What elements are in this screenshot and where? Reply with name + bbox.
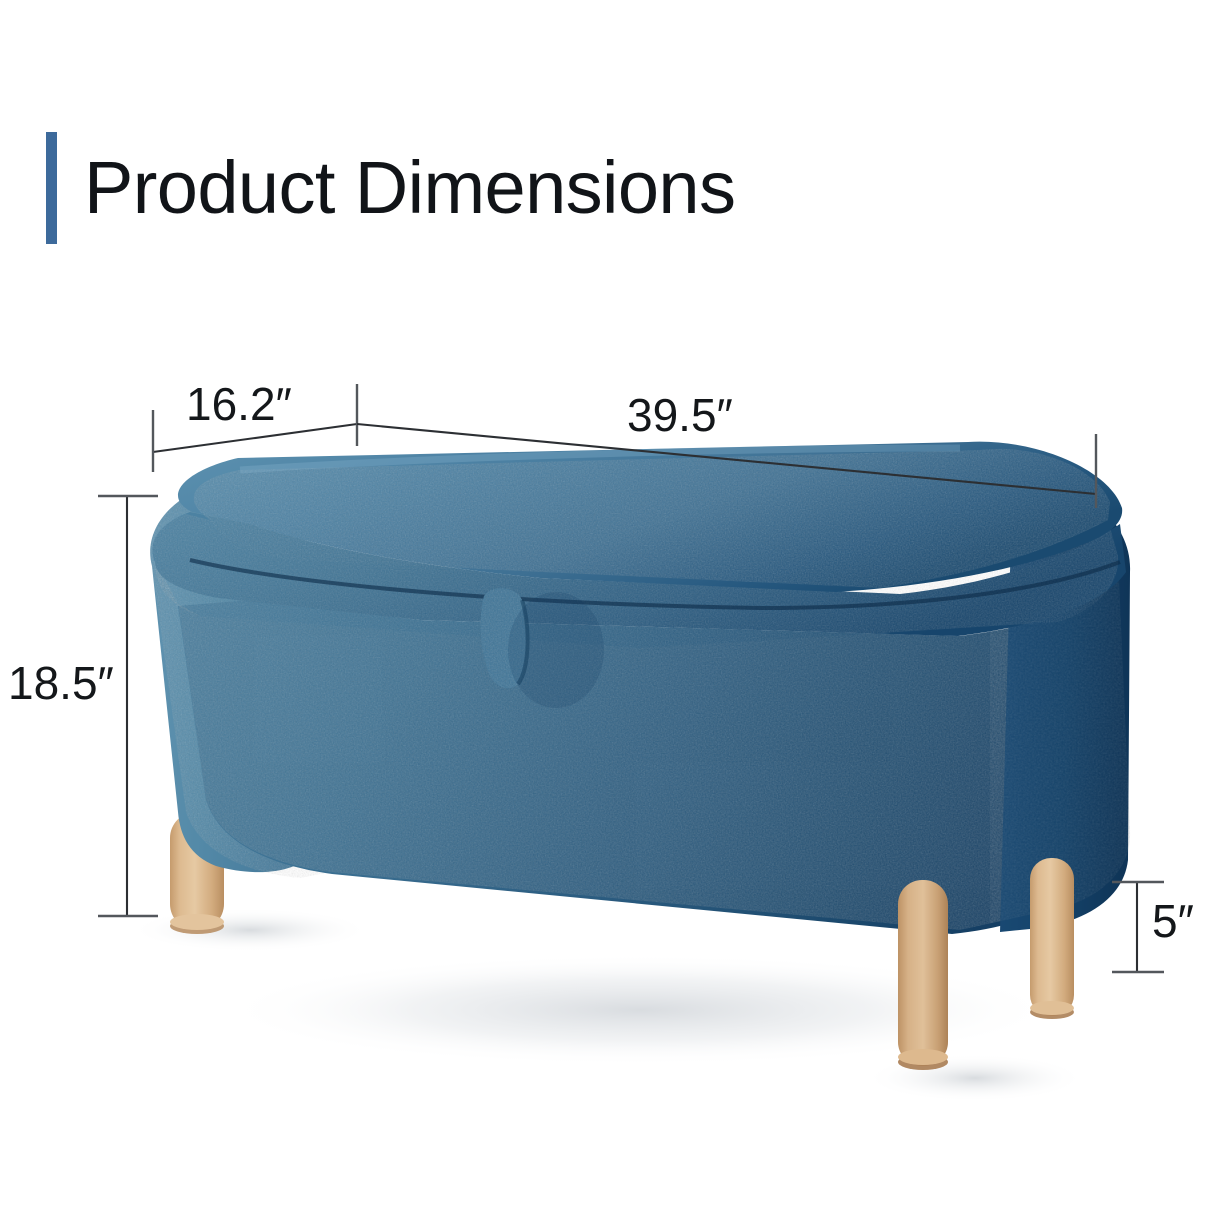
dimension-label-width: 39.5″ (627, 392, 733, 438)
dimension-label-leg: 5″ (1152, 898, 1194, 944)
dimension-label-height: 18.5″ (8, 660, 114, 706)
floor-shadow-left (130, 908, 370, 952)
floor-shadow-right (865, 1054, 1085, 1102)
leg-front-right (898, 880, 948, 1070)
product-dimensions-page: Product Dimensions (0, 0, 1208, 1208)
product-illustration (0, 0, 1208, 1208)
leg-right-rear (1030, 858, 1074, 1019)
pull-tab-shadow (508, 592, 604, 708)
dimension-label-depth: 16.2″ (186, 381, 292, 427)
